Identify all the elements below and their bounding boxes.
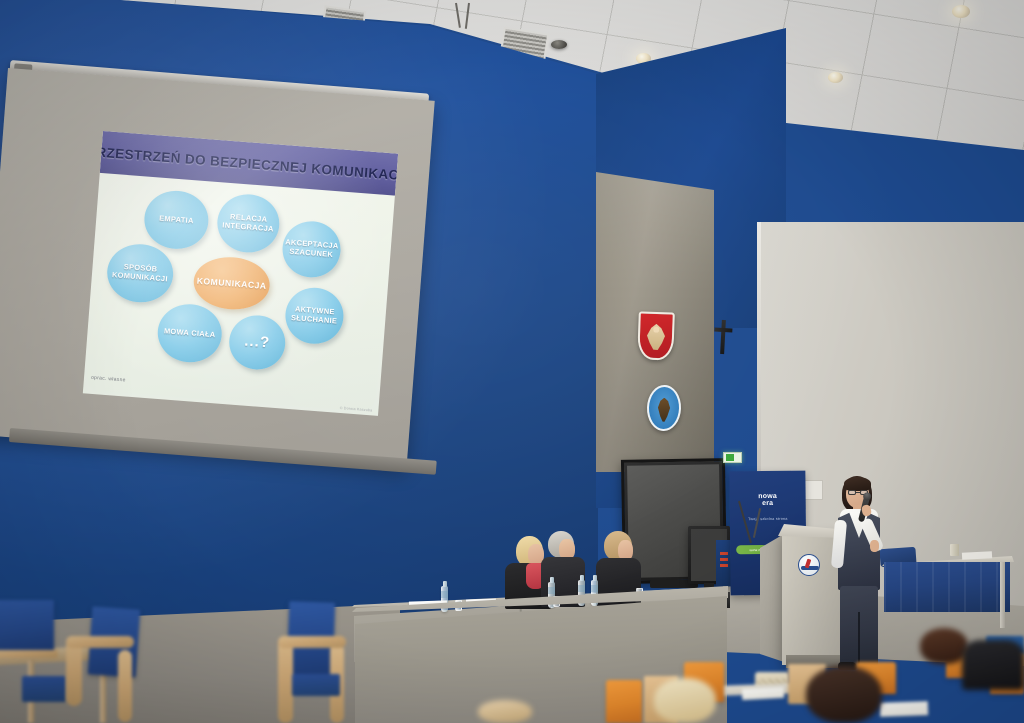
audience-person-head bbox=[654, 678, 716, 723]
skirt-folds bbox=[884, 562, 1010, 612]
trouser-seam bbox=[858, 612, 860, 668]
slide-bubble-akceptacja-szacunek: AKCEPTACJA SZACUNEK bbox=[280, 219, 342, 279]
banner-logo: nowa era bbox=[758, 493, 777, 508]
banner-logo-line1: nowa bbox=[758, 493, 777, 501]
slide-bubble-diagram: EMPATIA RELACJA INTEGRACJA AKCEPTACJA SZ… bbox=[83, 131, 398, 416]
audience-person-head bbox=[478, 700, 532, 723]
chair-backrest bbox=[0, 600, 54, 654]
banner-logo-line2: era bbox=[758, 500, 777, 508]
recessed-downlight bbox=[952, 5, 970, 18]
back-table-skirt bbox=[884, 562, 1010, 612]
recessed-downlight bbox=[828, 72, 843, 83]
speaker-fringe bbox=[844, 477, 871, 491]
chair-armrest bbox=[278, 636, 293, 723]
glasses-lens-left bbox=[848, 490, 856, 495]
ceiling-speaker-icon bbox=[551, 40, 567, 49]
chair-seat bbox=[292, 674, 340, 696]
exit-sign bbox=[723, 452, 742, 463]
chair-seat bbox=[22, 676, 66, 702]
crucifix-icon bbox=[720, 320, 726, 354]
slide-bubble-relacja-integracja: RELACJA INTEGRACJA bbox=[215, 192, 281, 255]
paper-on-desk bbox=[880, 701, 928, 717]
slide-bubble-aktywne-sluchanie: AKTYWNE SŁUCHANIE bbox=[283, 286, 345, 346]
paper-cup bbox=[950, 544, 959, 556]
projected-slide: PRZESTRZEŃ DO BEZPIECZNEJ KOMUNIKACJI EM… bbox=[83, 131, 398, 416]
audience-seat-back[interactable] bbox=[606, 680, 642, 723]
polish-coat-of-arms-icon bbox=[637, 311, 675, 360]
paper-on-desk bbox=[742, 687, 785, 700]
banner-tagline: Twoja szkolna strona bbox=[748, 517, 788, 521]
chair-frame bbox=[278, 636, 346, 648]
audience-person-head bbox=[920, 628, 968, 664]
slide-bubble-question: ...? bbox=[227, 313, 287, 371]
chair-frame bbox=[0, 650, 58, 658]
exit-sign-glyph bbox=[726, 454, 739, 461]
conference-hall-photo: PRZESTRZEŃ DO BEZPIECZNEJ KOMUNIKACJI EM… bbox=[0, 0, 1024, 723]
audience-person-head bbox=[806, 666, 882, 723]
equipment-indicator-lights bbox=[720, 552, 728, 570]
slide-bubble-mowa-ciala: MOWA CIAŁA bbox=[156, 302, 224, 365]
institution-emblem-icon bbox=[798, 554, 820, 576]
exit-arrow-icon bbox=[733, 455, 738, 461]
podium-side-panel bbox=[760, 534, 784, 662]
slide-bubble-sposob-komunikacji: SPOSÓB KOMUNIKACJI bbox=[105, 242, 175, 305]
chair-frame bbox=[66, 636, 134, 648]
back-table-leg bbox=[1000, 562, 1005, 628]
slide-bubble-empatia: EMPATIA bbox=[142, 189, 210, 252]
speaker-hand-left bbox=[870, 540, 879, 552]
chair-armrest bbox=[118, 650, 132, 722]
audience-person-shoulders bbox=[962, 640, 1024, 690]
slide-bubble-komunikacja-center: KOMUNIKACJA bbox=[192, 254, 272, 312]
